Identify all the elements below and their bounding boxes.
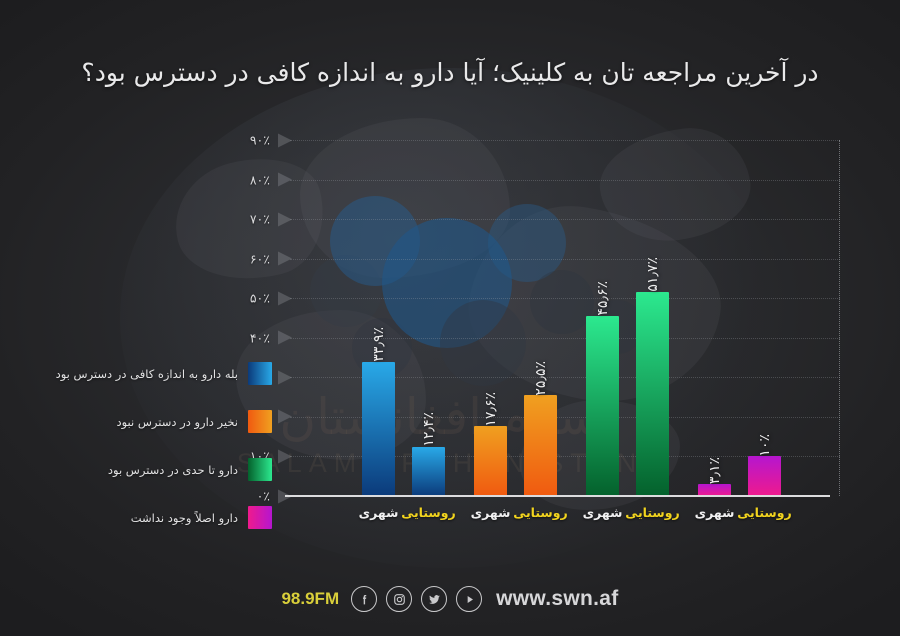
legend-label: بله دارو به اندازه کافی در دسترس بود: [56, 367, 238, 381]
legend-item[interactable]: دارو اصلاً وجود نداشت: [52, 506, 272, 529]
bar-value-label-wrapper: ۱۲٫۴٪: [418, 377, 440, 447]
chart-title: در آخرین مراجعه تان به کلینیک؛ آیا دارو …: [0, 58, 900, 87]
instagram-icon[interactable]: [386, 586, 412, 612]
legend-item[interactable]: نخیر دارو در دسترس نبود: [52, 410, 272, 433]
grid-line-vertical: [839, 140, 840, 496]
bar-value-label: ۴۵٫۶٪: [595, 276, 611, 316]
y-axis-tick-label: ۶۰٪: [230, 251, 270, 266]
bar-value-label: ۱۲٫۴٪: [421, 407, 437, 447]
tick-arrow-icon: [278, 173, 292, 187]
tick-arrow-icon: [278, 133, 292, 147]
footer-bar: 98.9FM www.swn.af: [0, 586, 900, 612]
chart-bar[interactable]: ۵۱٫۷٪: [636, 292, 669, 497]
chart-bar[interactable]: ۱۲٫۴٪: [412, 447, 445, 496]
tick-arrow-icon: [278, 370, 292, 384]
website-url[interactable]: www.swn.af: [496, 587, 618, 611]
tick-arrow-icon: [278, 331, 292, 345]
y-axis-tick-label: ۵۰٪: [230, 291, 270, 306]
y-axis-tick: ۴۰٪: [230, 330, 290, 345]
x-axis-category-label: شهری: [583, 505, 623, 520]
legend-swatch-magenta: [248, 506, 272, 529]
bar-value-label-wrapper: ۵۱٫۷٪: [642, 222, 664, 292]
legend-label: دارو تا حدی در دسترس بود: [108, 463, 238, 477]
chart-bar[interactable]: ۱۷٫۶٪: [474, 426, 507, 496]
y-axis-tick-label: ۴۰٪: [230, 330, 270, 345]
y-axis-tick: ۸۰٪: [230, 172, 290, 187]
legend-item[interactable]: بله دارو به اندازه کافی در دسترس بود: [52, 362, 272, 385]
chart-bar[interactable]: ۱۰٪: [748, 456, 781, 496]
chart-bar[interactable]: ۲۵٫۵٪: [524, 395, 557, 496]
legend-item[interactable]: دارو تا حدی در دسترس بود: [52, 458, 272, 481]
y-axis-tick: ۷۰٪: [230, 212, 290, 227]
x-axis-category-label: شهری: [695, 505, 735, 520]
legend-swatch-green: [248, 458, 272, 481]
bar-value-label: ۱۰٪: [757, 429, 773, 457]
y-axis-tick: ۶۰٪: [230, 251, 290, 266]
bar-value-label: ۲۵٫۵٪: [533, 356, 549, 396]
y-axis-tick: ۵۰٪: [230, 291, 290, 306]
y-axis-tick-label: ۸۰٪: [230, 172, 270, 187]
grid-line: [290, 180, 840, 181]
tick-arrow-icon: [278, 449, 292, 463]
legend-label: نخیر دارو در دسترس نبود: [116, 415, 238, 429]
y-axis-tick-label: ۷۰٪: [230, 212, 270, 227]
legend-label: دارو اصلاً وجود نداشت: [131, 511, 238, 525]
bar-value-label-wrapper: ۴۵٫۶٪: [592, 246, 614, 316]
twitter-icon[interactable]: [421, 586, 447, 612]
bar-value-label-wrapper: ۱۰٪: [754, 386, 776, 456]
x-axis-category-label: شهری: [471, 505, 511, 520]
axis-baseline: [285, 495, 830, 497]
radio-frequency-label: 98.9FM: [281, 589, 339, 609]
chart-bar[interactable]: ۴۵٫۶٪: [586, 316, 619, 496]
chart-legend: بله دارو به اندازه کافی در دسترس بودنخیر…: [52, 362, 272, 554]
grid-line: [290, 219, 840, 220]
legend-swatch-orange: [248, 410, 272, 433]
x-axis-category-label: روستایی: [625, 505, 679, 520]
y-axis-tick-label: ۹۰٪: [230, 133, 270, 148]
bar-value-label: ۵۱٫۷٪: [645, 252, 661, 292]
youtube-play-icon[interactable]: [456, 586, 482, 612]
bar-value-label: ۱۷٫۶٪: [483, 387, 499, 427]
x-axis-category-label: شهری: [359, 505, 399, 520]
x-axis-category-label: روستایی: [513, 505, 567, 520]
x-axis-category-label: روستایی: [737, 505, 791, 520]
bar-value-label-wrapper: ۱۷٫۶٪: [480, 356, 502, 426]
tick-arrow-icon: [278, 410, 292, 424]
facebook-icon[interactable]: [351, 586, 377, 612]
bar-value-label-wrapper: ۳٫۱٪: [704, 414, 726, 484]
y-axis-tick: ۹۰٪: [230, 133, 290, 148]
tick-arrow-icon: [278, 252, 292, 266]
grid-line: [290, 259, 840, 260]
tick-arrow-icon: [278, 212, 292, 226]
bar-value-label-wrapper: ۲۵٫۵٪: [530, 325, 552, 395]
bar-value-label-wrapper: ۳۳٫۹٪: [368, 292, 390, 362]
chart-plot-area: ۰٪۱۰٪۲۰٪۳۰٪۴۰٪۵۰٪۶۰٪۷۰٪۸۰٪۹۰٪ ۳۳٫۹٪۱۲٫۴٪…: [290, 140, 840, 496]
bar-value-label: ۳٫۱٪: [707, 452, 723, 484]
chart-bar[interactable]: ۳۳٫۹٪: [362, 362, 395, 496]
x-axis-category-label: روستایی: [401, 505, 455, 520]
legend-swatch-blue: [248, 362, 272, 385]
bar-value-label: ۳۳٫۹٪: [371, 322, 387, 362]
tick-arrow-icon: [278, 291, 292, 305]
grid-line: [290, 140, 840, 141]
